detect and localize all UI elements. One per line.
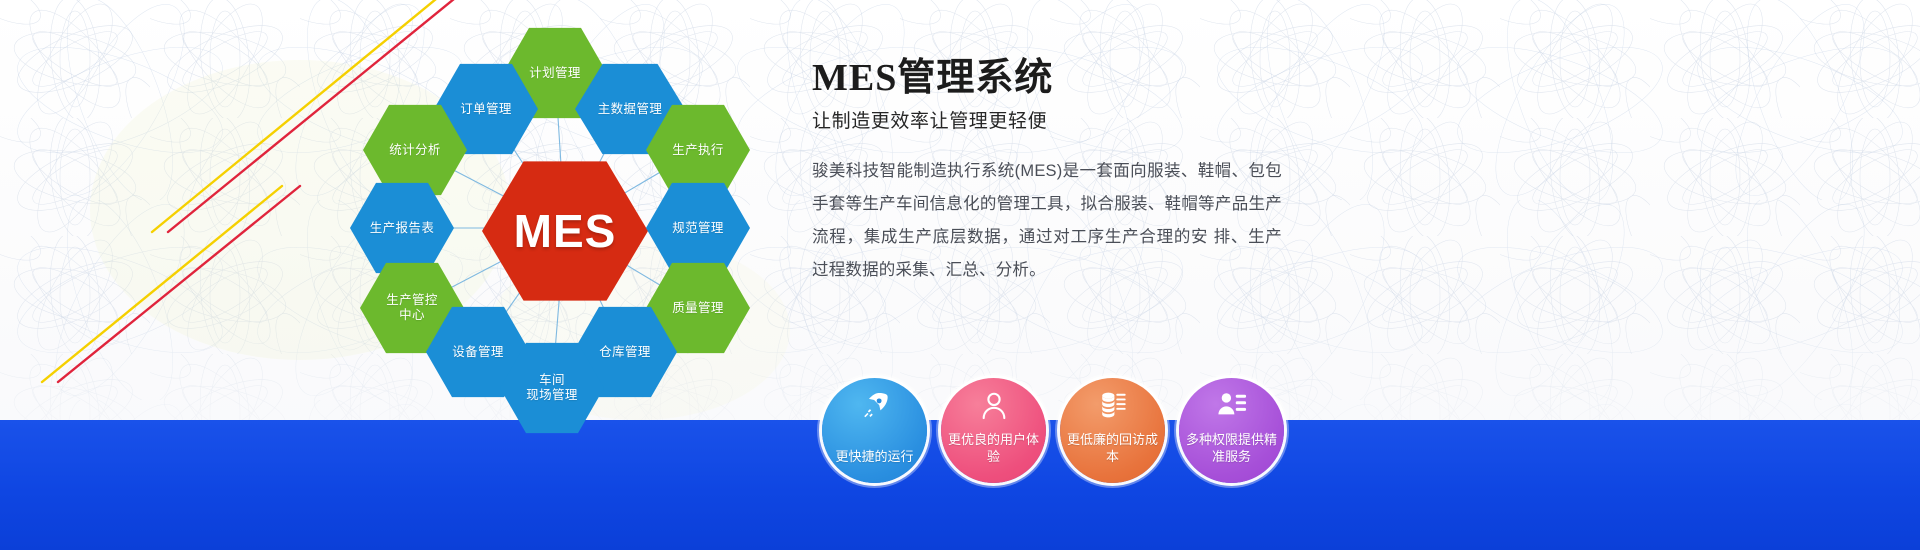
badge-better-user-experience[interactable]: 更优良的用户体验	[941, 378, 1046, 483]
page-title: MES管理系统	[812, 58, 1282, 100]
hex-label-order-management: 订单管理	[460, 102, 512, 117]
hex-label-workshop-site-management-line1: 车间	[539, 373, 565, 388]
hex-label-production-control-center-line2: 中心	[399, 308, 425, 323]
hex-label-production-execution: 生产执行	[672, 143, 724, 158]
hex-node-center-mes[interactable]: MES	[482, 160, 648, 302]
hex-label-standard-management: 规范管理	[672, 221, 724, 236]
description-paragraph: 骏美科技智能制造执行系统(MES)是一套面向服装、鞋帽、包包手套等生产车间信息化…	[812, 155, 1282, 287]
hex-label-quality-management: 质量管理	[672, 301, 724, 316]
hex-label-equipment-management: 设备管理	[452, 345, 504, 360]
hex-node-standard-management[interactable]: 规范管理	[646, 182, 750, 274]
hex-label-statistical-analysis: 统计分析	[389, 143, 441, 158]
mes-hexagon-diagram: MES 计划管理 订单管理 主数据管理 统计分析 生产执行	[330, 0, 800, 440]
user-icon	[979, 390, 1009, 420]
user-list-icon	[1217, 390, 1247, 420]
badge-label-multi-permission-service: 多种权限提供精准服务	[1185, 431, 1279, 465]
badge-multi-permission-service[interactable]: 多种权限提供精准服务	[1179, 378, 1284, 483]
badge-label-faster-operation: 更快捷的运行	[828, 448, 922, 465]
hex-label-warehouse-management: 仓库管理	[599, 345, 651, 360]
badge-label-lower-revisit-cost: 更低廉的回访成本	[1066, 431, 1160, 465]
badge-label-better-user-experience: 更优良的用户体验	[947, 431, 1041, 465]
hex-label-workshop-site-management-line2: 现场管理	[526, 388, 578, 403]
page-subtitle: 让制造更效率让管理更轻便	[812, 106, 1282, 133]
coins-icon	[1098, 390, 1128, 420]
hex-node-workshop-site-management[interactable]: 车间 现场管理	[500, 342, 604, 434]
badge-faster-operation[interactable]: 更快捷的运行	[822, 378, 927, 483]
text-panel: MES管理系统 让制造更效率让管理更轻便 骏美科技智能制造执行系统(MES)是一…	[812, 58, 1282, 287]
rocket-icon	[860, 390, 890, 420]
hex-node-production-report[interactable]: 生产报告表	[350, 182, 454, 274]
hex-label-mes: MES	[514, 204, 617, 258]
banner-stage: MES 计划管理 订单管理 主数据管理 统计分析 生产执行	[0, 0, 1920, 550]
feature-badges: 更快捷的运行 更优良的用户体验 更低廉的回访成本	[822, 378, 1284, 483]
hex-label-production-report: 生产报告表	[370, 221, 435, 236]
badge-lower-revisit-cost[interactable]: 更低廉的回访成本	[1060, 378, 1165, 483]
